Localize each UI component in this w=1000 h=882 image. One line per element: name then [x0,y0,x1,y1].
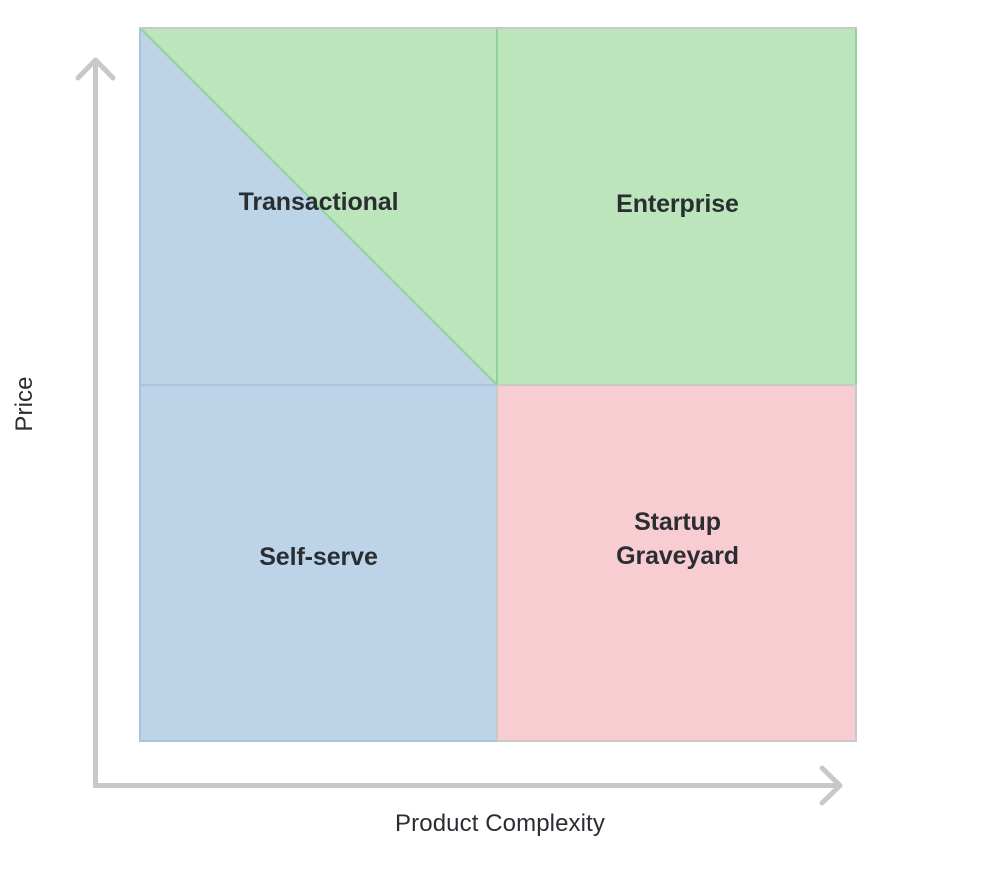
quadrant-label-enterprise: Enterprise [498,184,857,224]
quadrant-label-transactional: Transactional [139,182,498,222]
quadrant-label-startup-graveyard-line2: Graveyard [616,539,739,574]
quadrant-shapes [139,27,857,742]
arrow-right-icon [822,768,840,803]
x-axis-title: Product Complexity [0,810,1000,838]
quadrant-label-self-serve: Self-serve [139,537,498,577]
arrow-up-icon [78,60,113,78]
quadrant-label-startup-graveyard: Startup Graveyard [498,499,857,579]
pricing-strategy-matrix: Transactional Enterprise Self-serve Star… [0,0,1000,882]
plot-area: Transactional Enterprise Self-serve Star… [139,27,857,742]
quadrant-label-startup-graveyard-line1: Startup [634,505,721,540]
y-axis-title: Price [11,344,39,464]
